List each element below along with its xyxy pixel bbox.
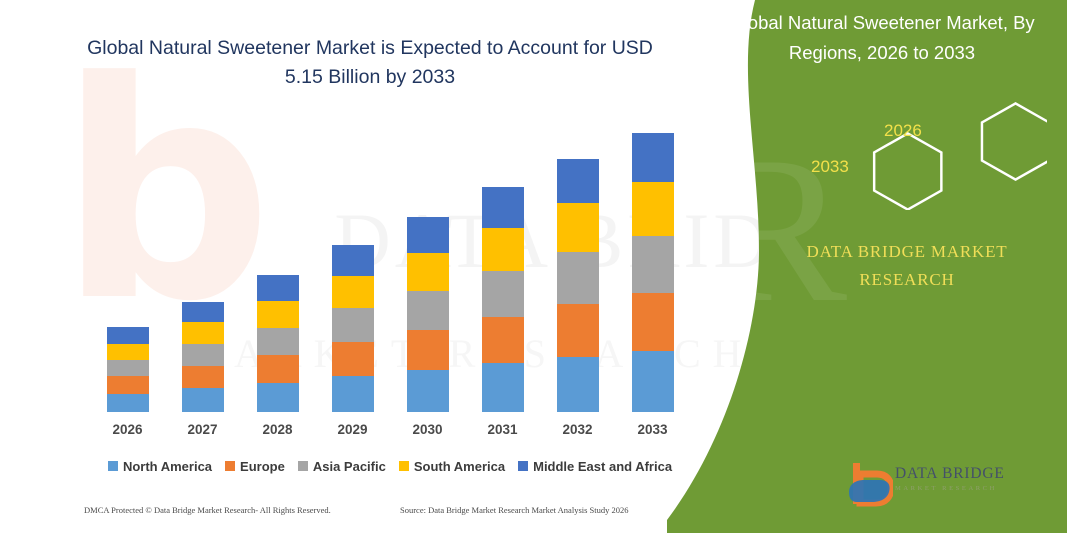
hex-label-2033: 2033: [811, 157, 849, 177]
legend-swatch-icon: [399, 461, 409, 471]
x-axis-tick-2027: 2027: [172, 422, 234, 437]
bar-segment: [407, 253, 449, 291]
bar-segment: [332, 245, 374, 275]
bar-segment: [257, 328, 299, 355]
chart-title: Global Natural Sweetener Market is Expec…: [70, 34, 670, 92]
legend-label: North America: [123, 459, 212, 474]
legend-item[interactable]: North America: [108, 459, 212, 474]
data-bridge-logo: DATA BRIDGE MARKET RESEARCH: [847, 460, 1062, 510]
bar-column-2027: [172, 120, 234, 412]
bar-segment: [257, 355, 299, 383]
stacked-bar: [257, 275, 299, 412]
bar-segment: [407, 370, 449, 412]
bar-column-2026: [97, 120, 159, 412]
hexagon-shapes: [787, 95, 1047, 210]
bar-segment: [482, 271, 524, 316]
legend-swatch-icon: [298, 461, 308, 471]
bar-segment: [557, 357, 599, 412]
green-side-panel: R Global Natural Sweetener Market, By Re…: [667, 0, 1067, 533]
chart-plot-area: [90, 120, 690, 412]
bar-segment: [332, 276, 374, 308]
bar-segment: [107, 360, 149, 376]
bar-column-2028: [247, 120, 309, 412]
x-axis-labels: 20262027202820292030203120322033: [90, 418, 690, 440]
bar-segment: [107, 376, 149, 393]
bar-segment: [557, 252, 599, 304]
panel-title: Global Natural Sweetener Market, By Regi…: [707, 8, 1057, 68]
bar-segment: [182, 366, 224, 389]
stacked-bar: [557, 159, 599, 412]
bar-segment: [107, 344, 149, 360]
bar-segment: [332, 308, 374, 342]
bar-segment: [482, 228, 524, 271]
bar-segment: [407, 330, 449, 370]
bar-segment: [257, 383, 299, 412]
green-panel-content: Global Natural Sweetener Market, By Regi…: [667, 0, 1067, 533]
bar-segment: [182, 302, 224, 323]
x-axis-tick-2031: 2031: [472, 422, 534, 437]
legend-label: Asia Pacific: [313, 459, 386, 474]
bar-segment: [107, 327, 149, 344]
hex-label-2026: 2026: [884, 121, 922, 141]
legend-swatch-icon: [108, 461, 118, 471]
logo-text-block: DATA BRIDGE MARKET RESEARCH: [895, 465, 1005, 492]
x-axis-tick-2026: 2026: [97, 422, 159, 437]
brand-name: DATA BRIDGE MARKET RESEARCH: [762, 238, 1052, 294]
stacked-bar: [332, 245, 374, 412]
bar-column-2029: [322, 120, 384, 412]
legend-item[interactable]: Middle East and Africa: [518, 459, 672, 474]
x-axis-tick-2032: 2032: [547, 422, 609, 437]
bar-segment: [182, 388, 224, 412]
bar-column-2030: [397, 120, 459, 412]
bar-segment: [257, 301, 299, 328]
bar-column-2032: [547, 120, 609, 412]
bar-segment: [182, 344, 224, 366]
bar-segment: [482, 187, 524, 228]
bar-segment: [557, 203, 599, 252]
bar-segment: [107, 394, 149, 412]
bar-segment: [332, 376, 374, 412]
footer-copyright: DMCA Protected © Data Bridge Market Rese…: [84, 505, 331, 515]
x-axis-tick-2028: 2028: [247, 422, 309, 437]
x-axis-tick-2030: 2030: [397, 422, 459, 437]
bar-segment: [557, 304, 599, 357]
bar-segment: [182, 322, 224, 344]
bar-segment: [332, 342, 374, 377]
stacked-bar: [182, 302, 224, 412]
bar-segment: [482, 317, 524, 364]
logo-title: DATA BRIDGE: [895, 465, 1005, 483]
legend-label: Middle East and Africa: [533, 459, 672, 474]
logo-b-icon: [847, 460, 893, 508]
infographic-root: b DATA BRIDGE MARKET RESEARCH Global Nat…: [0, 0, 1067, 533]
logo-subtitle: MARKET RESEARCH: [895, 485, 1005, 492]
stacked-bar: [407, 217, 449, 412]
legend-item[interactable]: Asia Pacific: [298, 459, 386, 474]
footer-source: Source: Data Bridge Market Research Mark…: [400, 505, 629, 515]
bar-column-2031: [472, 120, 534, 412]
stacked-bar: [482, 187, 524, 412]
legend-label: South America: [414, 459, 505, 474]
legend-label: Europe: [240, 459, 285, 474]
legend-swatch-icon: [225, 461, 235, 471]
chart-legend: North AmericaEuropeAsia PacificSouth Ame…: [90, 455, 690, 477]
stacked-bar: [107, 327, 149, 412]
bar-segment: [407, 291, 449, 330]
hexagon-group: 2033 2026: [787, 95, 1047, 210]
bar-segment: [257, 275, 299, 301]
legend-item[interactable]: South America: [399, 459, 505, 474]
legend-swatch-icon: [518, 461, 528, 471]
x-axis-tick-2029: 2029: [322, 422, 384, 437]
legend-item[interactable]: Europe: [225, 459, 285, 474]
stacked-bar-group: [90, 120, 690, 412]
bar-segment: [407, 217, 449, 253]
bar-segment: [557, 159, 599, 203]
bar-segment: [482, 363, 524, 412]
